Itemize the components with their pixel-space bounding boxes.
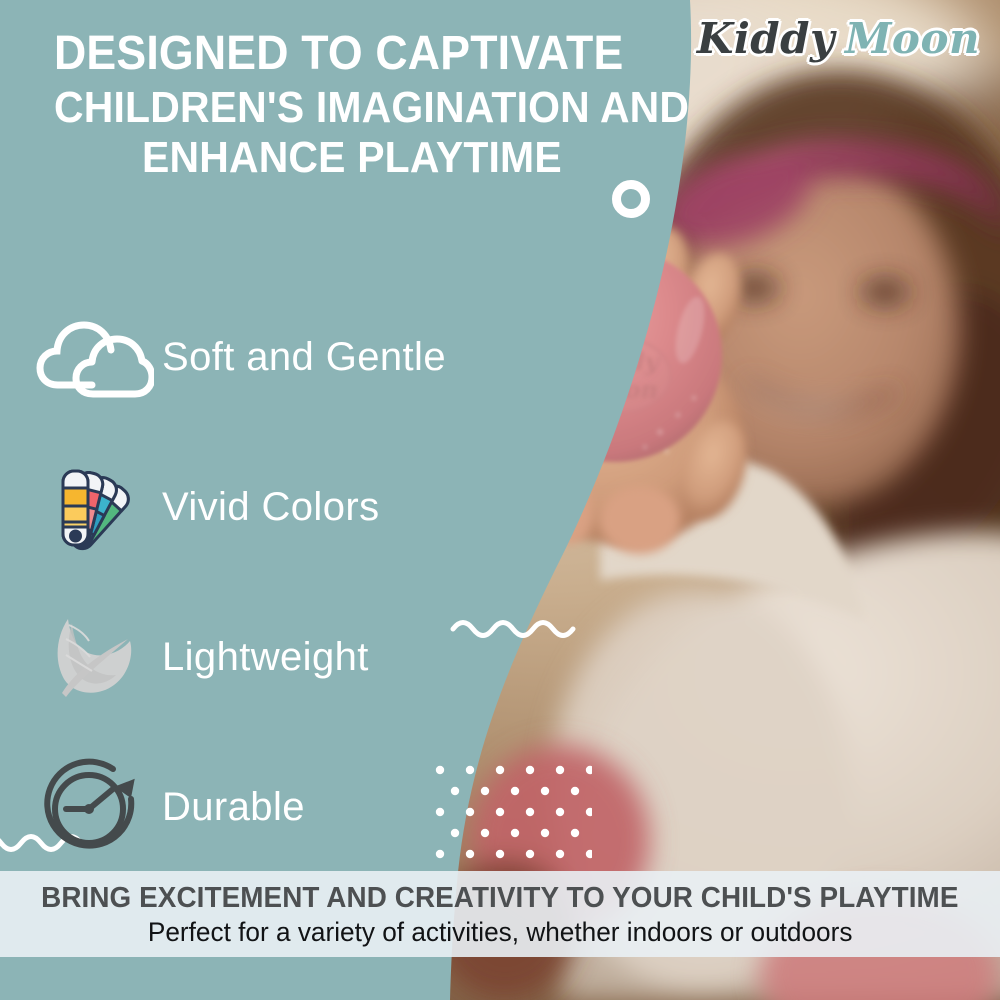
color-swatch-icon [36, 457, 154, 557]
headline: DESIGNED TO CAPTIVATE CHILDREN'S IMAGINA… [54, 28, 654, 182]
cloud-icon [36, 307, 154, 407]
feature-label: Vivid Colors [162, 485, 379, 530]
feature-list: Soft and Gentle [36, 282, 496, 882]
clock-arrow-icon [36, 757, 154, 857]
circle-outline-icon [612, 180, 650, 218]
bottom-banner: BRING EXCITEMENT AND CREATIVITY TO YOUR … [0, 871, 1000, 957]
brand-logo: KiddyMoon [697, 16, 980, 62]
infographic-canvas: Kiddy Moon DESIGNED TO CAPTIVATE CHILDRE… [0, 0, 1000, 1000]
feature-label: Durable [162, 785, 305, 830]
banner-title: BRING EXCITEMENT AND CREATIVITY TO YOUR … [41, 882, 958, 914]
brand-logo-moon: Moon [845, 14, 980, 63]
feature-item-lightweight: Lightweight [36, 582, 496, 732]
feature-label: Soft and Gentle [162, 335, 446, 380]
headline-line-1: DESIGNED TO CAPTIVATE [54, 28, 612, 80]
feature-item-vivid-colors: Vivid Colors [36, 432, 496, 582]
feature-item-soft-and-gentle: Soft and Gentle [36, 282, 496, 432]
headline-line-3: ENHANCE PLAYTIME [142, 134, 618, 182]
feather-icon [36, 607, 154, 707]
brand-logo-kiddy: Kiddy [697, 14, 835, 63]
feature-label: Lightweight [162, 635, 369, 680]
banner-subtitle: Perfect for a variety of activities, whe… [148, 917, 853, 947]
headline-line-2: CHILDREN'S IMAGINATION AND [54, 84, 612, 132]
feature-item-durable: Durable [36, 732, 496, 882]
